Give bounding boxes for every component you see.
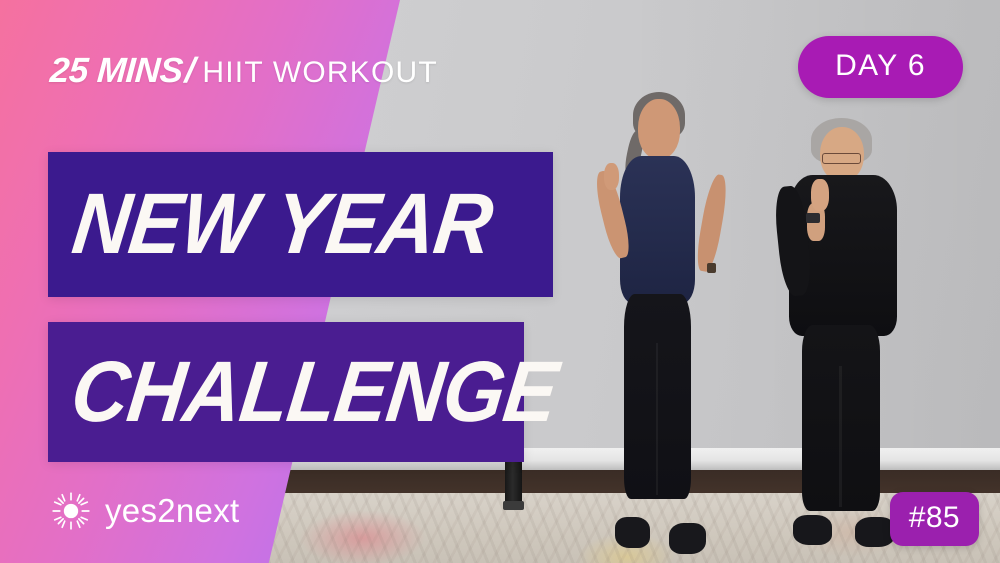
- title-line1: NEW YEAR: [43, 185, 496, 264]
- title-line2: CHALLENGE: [43, 353, 561, 432]
- floor-speaker: [505, 459, 522, 510]
- day-badge: DAY 6: [798, 36, 963, 98]
- workout-type-label: HIIT WORKOUT: [196, 56, 438, 90]
- legs-leggings: [624, 294, 692, 499]
- video-thumbnail: 25 MINS/HIIT WORKOUT NEW YEAR CHALLENGE: [0, 0, 1000, 563]
- episode-number-badge: #85: [890, 492, 979, 546]
- title-banner-line1: NEW YEAR: [48, 152, 553, 297]
- wristwatch: [707, 263, 716, 273]
- left-fist: [604, 163, 618, 190]
- person-instructor: [594, 99, 724, 544]
- head: [638, 99, 680, 159]
- right-shoe: [669, 523, 705, 554]
- brand-name: yes2next: [105, 492, 239, 530]
- wristwatch: [806, 213, 820, 223]
- separator: /: [181, 51, 198, 91]
- sun-icon: [50, 490, 92, 532]
- title-banner-line2: CHALLENGE: [48, 322, 524, 462]
- eyeglasses: [822, 153, 861, 164]
- person-participant: [775, 118, 910, 540]
- workout-kicker: 25 MINS/HIIT WORKOUT: [50, 51, 438, 91]
- brand-logo[interactable]: yes2next: [50, 490, 239, 532]
- duration-label: 25 MINS: [49, 51, 184, 91]
- raised-fist: [811, 179, 829, 211]
- left-shoe: [793, 515, 832, 545]
- left-shoe: [615, 517, 650, 548]
- legs-joggers: [802, 325, 880, 511]
- torso-tank-top: [620, 156, 695, 303]
